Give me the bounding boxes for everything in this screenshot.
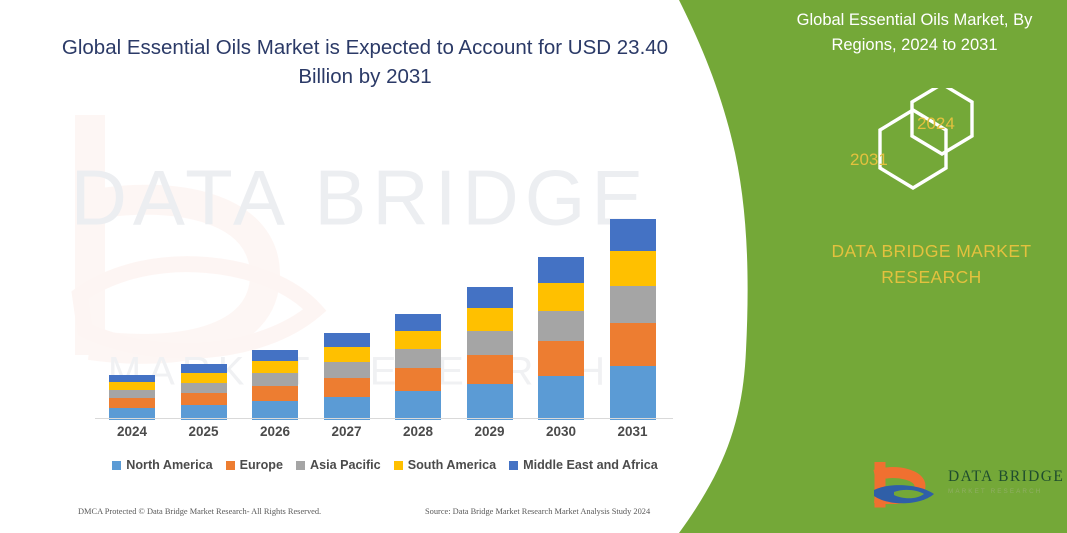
bar-segment [467,355,513,384]
x-axis-label-2027: 2027 [315,424,379,439]
bar-segment [109,382,155,390]
legend-swatch-icon [509,461,518,470]
bar-segment [252,350,298,361]
bar-segment [395,349,441,368]
legend-item-asia-pacific[interactable]: Asia Pacific [296,458,381,472]
legend-item-north-america[interactable]: North America [112,458,212,472]
bar-segment [252,386,298,401]
footer-copyright: DMCA Protected © Data Bridge Market Rese… [78,507,321,516]
chart-legend: North AmericaEuropeAsia PacificSouth Ame… [95,455,675,475]
bar-2030[interactable] [538,257,584,420]
legend-label: North America [126,458,212,472]
hexagon-group: 2024 2031 [815,88,1000,208]
hexagon-2024-label: 2024 [917,114,955,134]
bar-2028[interactable] [395,314,441,420]
data-bridge-logo: DATA BRIDGE MARKET RESEARCH [872,462,1062,514]
bar-segment [181,373,227,383]
legend-item-south-america[interactable]: South America [394,458,496,472]
bar-segment [324,347,370,362]
legend-swatch-icon [296,461,305,470]
legend-item-europe[interactable]: Europe [226,458,283,472]
hexagons-icon [815,88,1000,208]
bar-segment [109,375,155,382]
legend-swatch-icon [112,461,121,470]
bar-segment [181,393,227,405]
brand-name: DATA BRIDGE MARKET RESEARCH [800,238,1063,290]
bar-2029[interactable] [467,287,513,420]
bar-segment [538,283,584,311]
bar-2027[interactable] [324,333,370,420]
bar-segment [181,364,227,373]
bar-segment [467,287,513,308]
legend-label: South America [408,458,496,472]
legend-label: Asia Pacific [310,458,381,472]
bar-segment [395,314,441,331]
stacked-bar-chart [95,110,675,420]
bar-segment [538,341,584,376]
x-axis-labels: 20242025202620272028202920302031 [95,424,675,448]
bar-2024[interactable] [109,375,155,420]
bar-segment [109,390,155,398]
x-axis-label-2025: 2025 [172,424,236,439]
legend-item-middle-east-and-africa[interactable]: Middle East and Africa [509,458,658,472]
bar-segment [395,331,441,349]
logo-subtitle: MARKET RESEARCH [948,488,1042,495]
x-axis-label-2030: 2030 [529,424,593,439]
logo-text: DATA BRIDGE [948,468,1064,486]
x-axis-line [95,418,673,419]
bar-segment [467,331,513,355]
infographic-canvas: DATA BRIDGE MARKET RESEARCH Global Essen… [0,0,1067,533]
bar-segment [181,383,227,393]
bar-segment [324,333,370,347]
bar-segment [395,368,441,391]
legend-swatch-icon [394,461,403,470]
logo-mark-icon [872,462,942,512]
bar-segment [252,361,298,373]
hexagon-2031-label: 2031 [850,150,888,170]
x-axis-label-2024: 2024 [100,424,164,439]
page-title: Global Essential Oils Market is Expected… [60,33,670,91]
bar-segment [538,311,584,341]
bar-2026[interactable] [252,350,298,420]
bar-segment [538,376,584,420]
x-axis-label-2028: 2028 [386,424,450,439]
legend-swatch-icon [226,461,235,470]
bar-segment [467,384,513,420]
x-axis-label-2026: 2026 [243,424,307,439]
bar-segment [324,378,370,397]
bar-segment [109,398,155,408]
bar-segment [538,257,584,283]
bar-2025[interactable] [181,364,227,420]
bar-segment [324,397,370,420]
footer-source: Source: Data Bridge Market Research Mark… [425,507,650,516]
legend-label: Europe [240,458,283,472]
bar-segment [467,308,513,331]
bar-segment [395,391,441,420]
footer: DMCA Protected © Data Bridge Market Rese… [78,507,678,523]
panel-title: Global Essential Oils Market, By Regions… [772,8,1057,58]
bar-segment [324,362,370,378]
legend-label: Middle East and Africa [523,458,658,472]
bar-segment [252,373,298,386]
x-axis-label-2029: 2029 [458,424,522,439]
